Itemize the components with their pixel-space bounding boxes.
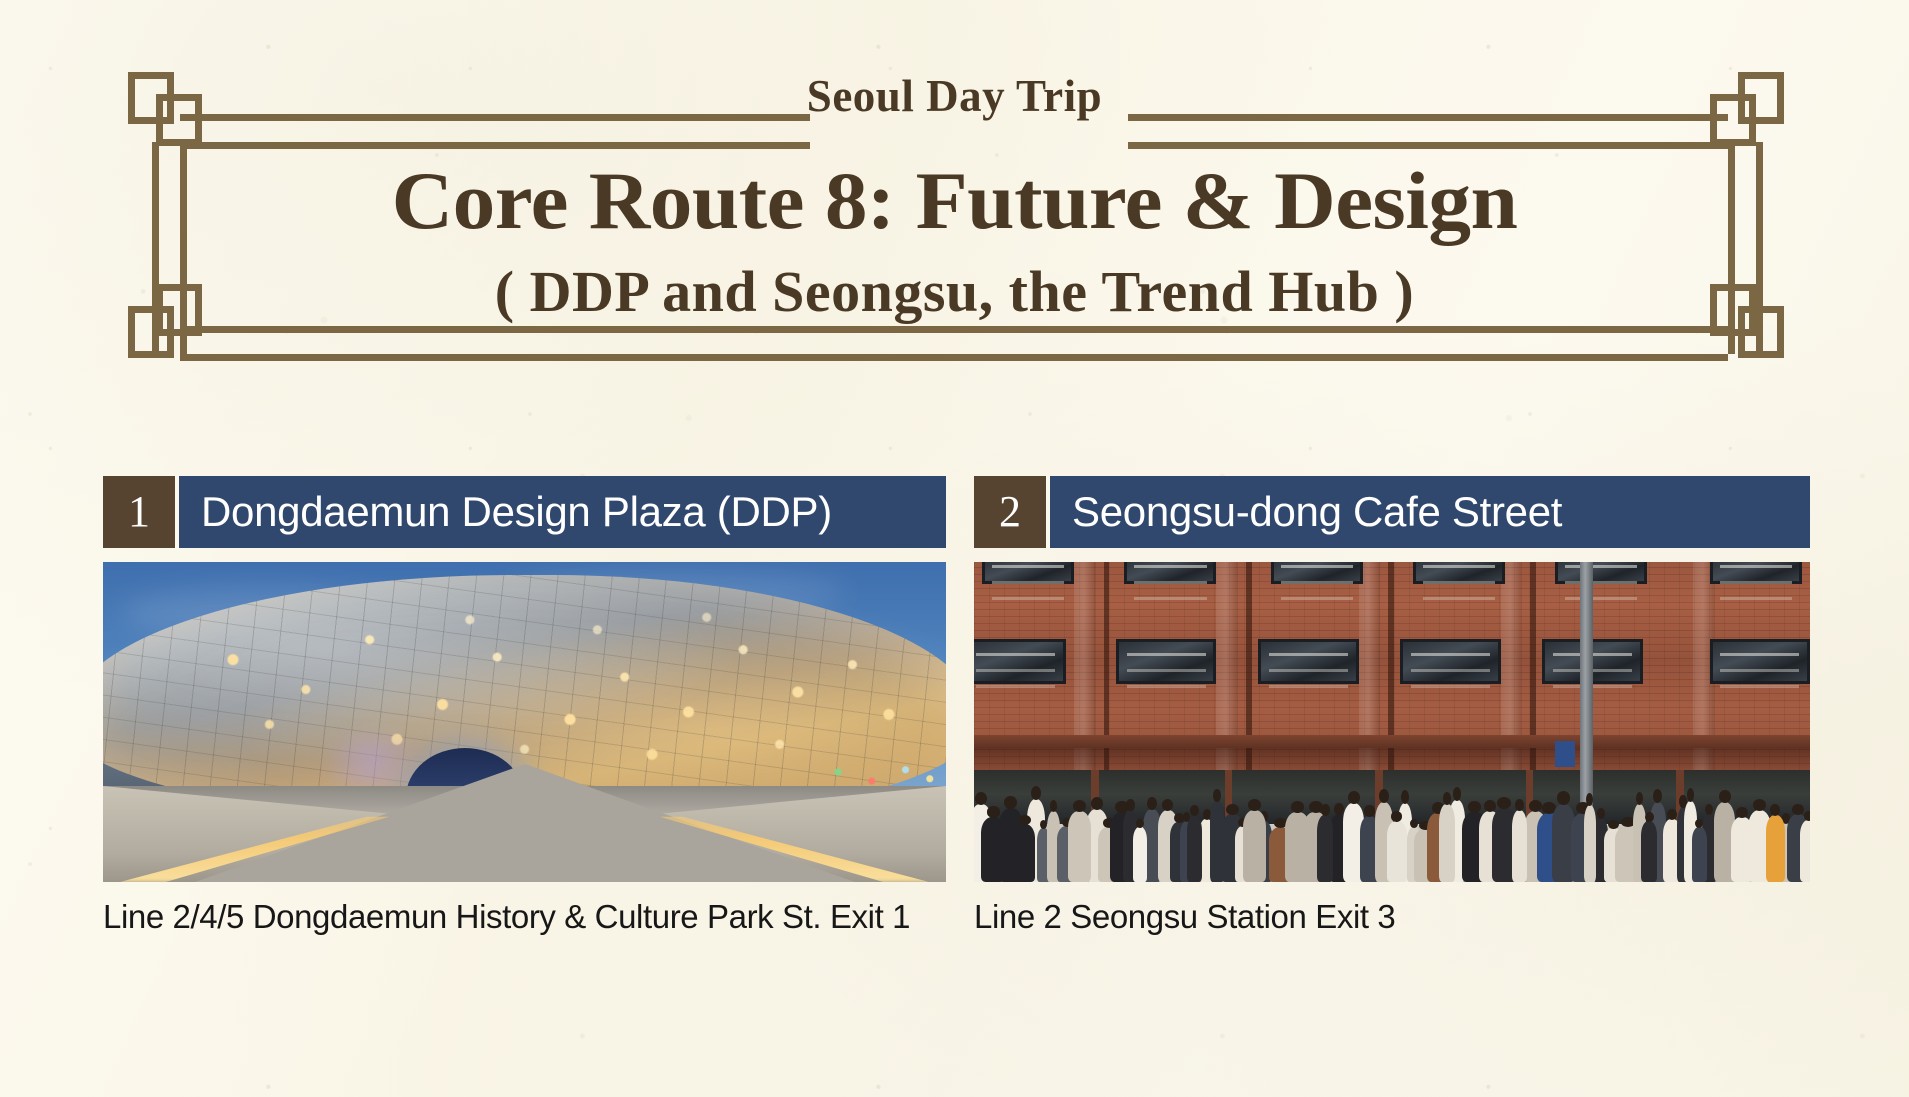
seongsu-person bbox=[1243, 810, 1266, 882]
ddp-city-lights bbox=[811, 754, 946, 799]
seongsu-person-head bbox=[1348, 791, 1360, 804]
slide-root: Seoul Day Trip Core Route 8: Future & De… bbox=[0, 0, 1909, 1097]
seongsu-person bbox=[1641, 821, 1657, 882]
seongsu-person-head bbox=[1291, 801, 1305, 813]
seongsu-person-head bbox=[1379, 789, 1389, 803]
seongsu-window-upper-3 bbox=[1271, 562, 1363, 584]
seongsu-person-head bbox=[1213, 789, 1221, 803]
seongsu-person-head bbox=[1753, 799, 1766, 811]
seongsu-window-upper-6 bbox=[1710, 562, 1802, 584]
seongsu-person bbox=[1692, 827, 1707, 882]
seongsu-person-head bbox=[1705, 804, 1714, 816]
page-title: Core Route 8: Future & Design bbox=[0, 158, 1909, 244]
seongsu-person bbox=[1133, 827, 1146, 882]
seongsu-person-head bbox=[1162, 799, 1173, 811]
seongsu-person-head bbox=[1608, 820, 1618, 829]
seongsu-window-upper-1 bbox=[982, 562, 1074, 584]
seongsu-person-head bbox=[1073, 800, 1086, 812]
seongsu-person-head bbox=[1190, 805, 1199, 816]
seongsu-window-upper-4 bbox=[1413, 562, 1505, 584]
header-eyebrow: Seoul Day Trip bbox=[0, 74, 1909, 119]
seongsu-person-head bbox=[1248, 799, 1261, 811]
frame-rule-top-right-lower bbox=[1128, 142, 1728, 149]
card-2-title: Seongsu-dong Cafe Street bbox=[1046, 476, 1810, 548]
seongsu-person bbox=[1068, 811, 1091, 882]
frame-rule-bottom-lower bbox=[180, 354, 1728, 361]
seongsu-person-head bbox=[1636, 792, 1643, 805]
seongsu-person-head bbox=[1586, 793, 1593, 806]
seongsu-window-upper-2 bbox=[1124, 562, 1216, 584]
seongsu-person-head bbox=[1468, 801, 1482, 813]
seongsu-person bbox=[1387, 821, 1406, 882]
seongsu-person-head bbox=[1321, 804, 1330, 815]
seongsu-person bbox=[1015, 824, 1036, 882]
seongsu-window-main-6 bbox=[1710, 639, 1810, 684]
seongsu-window-main-1 bbox=[974, 639, 1066, 684]
seongsu-person-head bbox=[1136, 819, 1144, 828]
card-1-title: Dongdaemun Design Plaza (DDP) bbox=[175, 476, 946, 548]
seongsu-person-head bbox=[1597, 808, 1606, 819]
seongsu-person-head bbox=[1719, 790, 1731, 804]
seongsu-facade-shadow bbox=[974, 748, 1810, 770]
seongsu-person-head bbox=[1004, 796, 1017, 809]
seongsu-crowd bbox=[974, 780, 1810, 882]
route-card-2[interactable]: 2 Seongsu-dong Cafe Street bbox=[974, 476, 1810, 936]
card-2-photo-seongsu bbox=[974, 562, 1810, 882]
seongsu-person-head bbox=[1497, 797, 1511, 810]
card-2-header: 2 Seongsu-dong Cafe Street bbox=[974, 476, 1810, 548]
seongsu-person-head bbox=[1645, 812, 1654, 822]
seongsu-person-head bbox=[1126, 799, 1134, 811]
seongsu-person-head bbox=[1050, 800, 1058, 812]
card-1-number-badge: 1 bbox=[103, 476, 175, 548]
card-1-caption: Line 2/4/5 Dongdaemun History & Culture … bbox=[103, 898, 946, 936]
seongsu-window-main-2 bbox=[1116, 639, 1216, 684]
seongsu-cornice bbox=[974, 735, 1810, 748]
seongsu-person-head bbox=[1529, 800, 1542, 812]
seongsu-person bbox=[1317, 815, 1333, 882]
frame-rule-bottom-upper bbox=[180, 326, 1728, 333]
seongsu-person bbox=[1439, 804, 1455, 882]
seongsu-person-head bbox=[1687, 788, 1694, 802]
seongsu-person-head bbox=[1792, 804, 1805, 816]
seongsu-person-head bbox=[1484, 800, 1496, 812]
seongsu-person-head bbox=[1401, 790, 1409, 804]
seongsu-person-head bbox=[1334, 803, 1344, 815]
seongsu-person-head bbox=[975, 792, 987, 805]
seongsu-person-head bbox=[1019, 815, 1031, 825]
frame-rule-top-left-lower bbox=[180, 142, 810, 149]
card-2-number-badge: 2 bbox=[974, 476, 1046, 548]
page-subtitle: ( DDP and Seongsu, the Trend Hub ) bbox=[0, 262, 1909, 323]
seongsu-person-head bbox=[987, 806, 1000, 817]
route-card-1[interactable]: 1 Dongdaemun Design Plaza (DDP) bbox=[103, 476, 946, 936]
seongsu-window-main-4 bbox=[1400, 639, 1500, 684]
seongsu-person-head bbox=[1364, 805, 1374, 816]
seongsu-window-main-3 bbox=[1258, 639, 1358, 684]
seongsu-person-head bbox=[1410, 819, 1418, 828]
route-card-list: 1 Dongdaemun Design Plaza (DDP) bbox=[0, 476, 1909, 1016]
seongsu-person-head bbox=[1515, 799, 1523, 811]
seongsu-person-head bbox=[1443, 792, 1452, 805]
seongsu-person-head bbox=[1091, 797, 1103, 809]
card-1-photo-ddp bbox=[103, 562, 946, 882]
seongsu-window-upper-5 bbox=[1555, 562, 1647, 584]
seongsu-person bbox=[1800, 820, 1810, 882]
seongsu-person-head bbox=[1031, 786, 1041, 800]
seongsu-person bbox=[1584, 805, 1597, 882]
seongsu-window-main-5 bbox=[1542, 639, 1642, 684]
seongsu-person bbox=[1187, 815, 1203, 882]
card-1-header: 1 Dongdaemun Design Plaza (DDP) bbox=[103, 476, 946, 548]
seongsu-person-head bbox=[1667, 809, 1677, 820]
seongsu-person-head bbox=[1653, 789, 1662, 803]
seongsu-person-head bbox=[1557, 791, 1570, 804]
seongsu-person-head bbox=[1226, 804, 1239, 816]
seongsu-person-head bbox=[1453, 787, 1462, 801]
seongsu-person-head bbox=[1770, 804, 1781, 815]
seongsu-person bbox=[1512, 810, 1527, 882]
seongsu-person-head bbox=[1147, 797, 1157, 809]
seongsu-pole-sign bbox=[1555, 741, 1575, 767]
ddp-walkway bbox=[195, 764, 855, 882]
card-2-caption: Line 2 Seongsu Station Exit 3 bbox=[974, 898, 1810, 936]
seongsu-person bbox=[1766, 815, 1785, 882]
